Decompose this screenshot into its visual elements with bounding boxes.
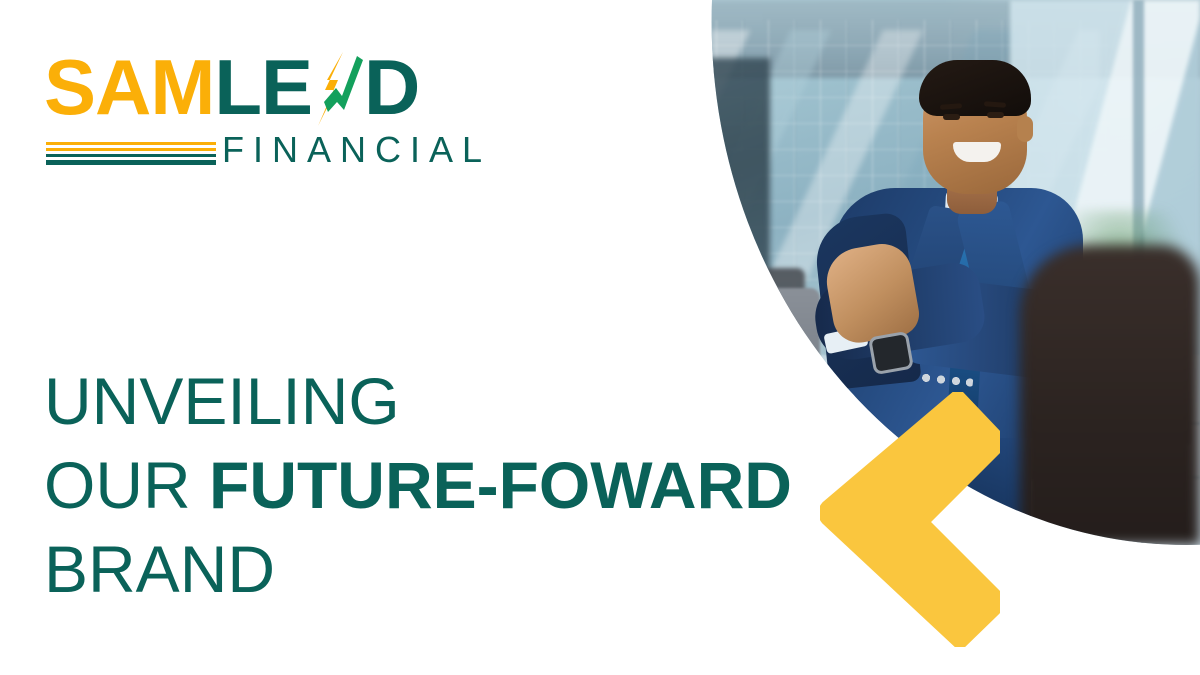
businessman-hair [919,60,1031,116]
headline-line-2-prefix: OUR [44,448,209,522]
logo-word-d: D [364,43,419,131]
businessman-wristwatch [868,331,914,375]
logo-word-le: LE [214,43,312,131]
businessman-eye-left [943,114,960,120]
logo-wordmark: SAMLED [44,48,419,126]
photo-doorway-sign [602,98,692,104]
brand-announcement-slide: SAMLED FINANCIAL UNVEILING OUR FUTURE-FO… [0,0,1200,675]
lightning-growth-arrow-icon [312,50,364,128]
logo-stripe-orange [46,148,216,151]
businessman-ear [1017,116,1033,142]
page-title: UNVEILING OUR FUTURE-FOWARD BRAND [44,360,792,611]
headline-line-3: BRAND [44,528,792,612]
photo-foreground-object [1020,245,1200,545]
logo-stripe-teal [46,154,216,157]
photo-doorway [580,58,770,358]
headline-line-2: OUR FUTURE-FOWARD [44,444,792,528]
businessman-eye-right [987,112,1004,118]
photo-doorway-sign-secondary [598,122,644,127]
logo-tagline: FINANCIAL [222,132,491,168]
brand-chevron-accent [820,392,1000,647]
logo-stripe-teal [46,160,216,165]
logo-word-sam: SAM [44,43,214,131]
logo-stripe-orange [46,142,216,145]
logo-stripes [46,142,216,165]
logo[interactable]: SAMLED FINANCIAL [44,48,419,174]
headline-line-1: UNVEILING [44,360,792,444]
headline-line-2-emphasis: FUTURE-FOWARD [209,448,792,522]
logo-subline: FINANCIAL [44,132,419,174]
